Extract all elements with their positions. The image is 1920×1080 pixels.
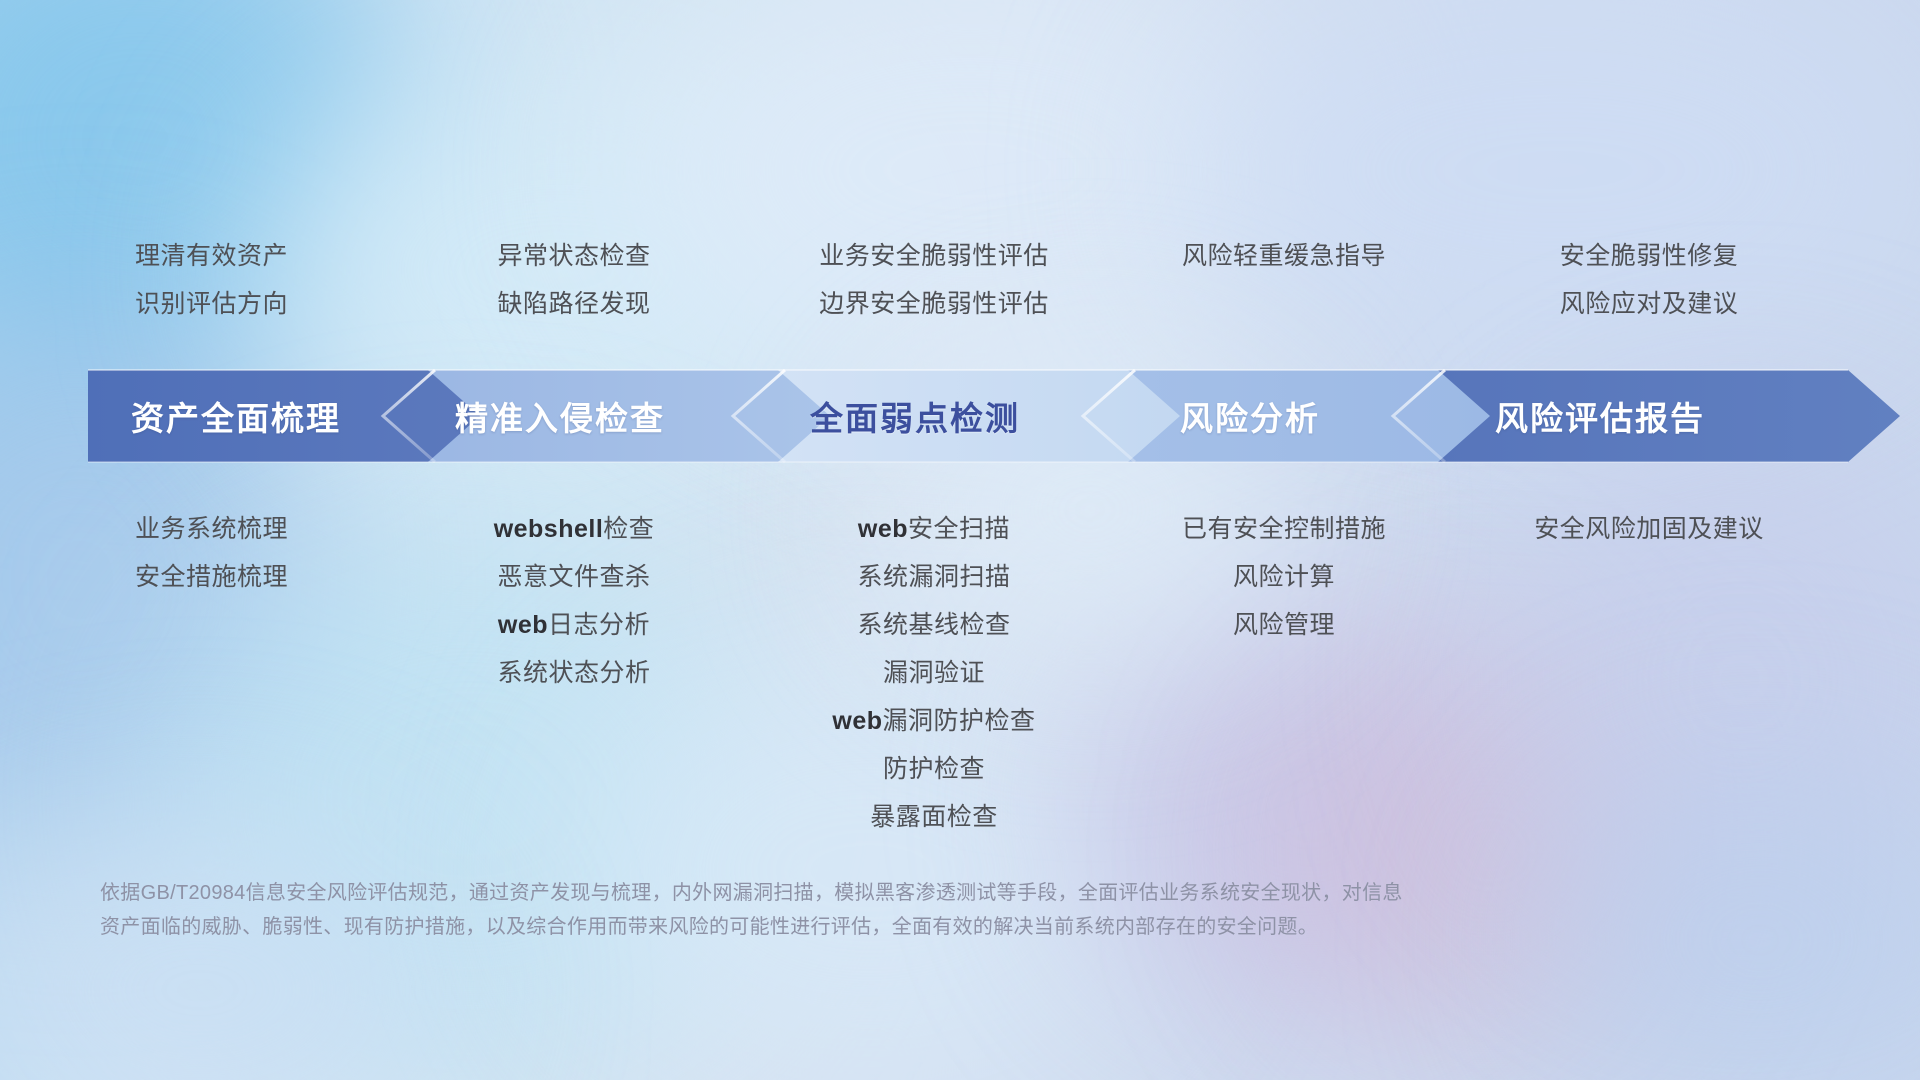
chevron-label-weakness-detection[interactable]: 全面弱点检测 [745, 366, 1085, 466]
list-item: 业务系统梳理 [24, 505, 399, 553]
slide-canvas: 理清有效资产识别评估方向 异常状态检查缺陷路径发现 业务安全脆弱性评估边界安全脆… [0, 0, 1920, 1080]
top-captions-weakness-detection: 业务安全脆弱性评估边界安全脆弱性评估 [749, 232, 1119, 328]
process-chevron-band: 资产全面梳理 精准入侵检查 全面弱点检测 风险分析 风险评估报告 [0, 366, 1920, 466]
list-item: 已有安全控制措施 [1119, 505, 1449, 553]
list-item: 理清有效资产 [24, 232, 399, 280]
details-intrusion-check: webshell检查恶意文件查杀web日志分析系统状态分析 [399, 505, 749, 697]
list-item: web安全扫描 [749, 505, 1119, 553]
list-item: 识别评估方向 [24, 280, 399, 328]
list-item: 边界安全脆弱性评估 [749, 280, 1119, 328]
list-item: 缺陷路径发现 [399, 280, 749, 328]
top-captions-asset-inventory: 理清有效资产识别评估方向 [24, 232, 399, 328]
list-item: 恶意文件查杀 [399, 553, 749, 601]
list-item: 风险轻重缓急指导 [1119, 232, 1449, 280]
list-item: 暴露面检查 [749, 793, 1119, 841]
list-item: 安全脆弱性修复 [1449, 232, 1849, 280]
top-captions-row: 理清有效资产识别评估方向 异常状态检查缺陷路径发现 业务安全脆弱性评估边界安全脆… [0, 232, 1920, 352]
details-asset-inventory: 业务系统梳理安全措施梳理 [24, 505, 399, 601]
list-item-keyword: webshell [494, 515, 604, 543]
list-item: 风险应对及建议 [1449, 280, 1849, 328]
top-captions-intrusion-check: 异常状态检查缺陷路径发现 [399, 232, 749, 328]
footer-line-1: 依据GB/T20984信息安全风险评估规范，通过资产发现与梳理，内外网漏洞扫描，… [100, 876, 1640, 910]
chevron-label-intrusion-check[interactable]: 精准入侵检查 [400, 366, 720, 466]
list-item-keyword: web [498, 611, 548, 639]
list-item: webshell检查 [399, 505, 749, 553]
list-item: 风险管理 [1119, 601, 1449, 649]
details-risk-analysis: 已有安全控制措施风险计算风险管理 [1119, 505, 1449, 649]
list-item: 安全风险加固及建议 [1449, 505, 1849, 553]
list-item: 系统状态分析 [399, 649, 749, 697]
bottom-details-row: 业务系统梳理安全措施梳理 webshell检查恶意文件查杀web日志分析系统状态… [0, 505, 1920, 835]
list-item: 安全措施梳理 [24, 553, 399, 601]
list-item: 漏洞验证 [749, 649, 1119, 697]
top-captions-risk-analysis: 风险轻重缓急指导 [1119, 232, 1449, 280]
list-item: web日志分析 [399, 601, 749, 649]
list-item: 系统基线检查 [749, 601, 1119, 649]
list-item: web漏洞防护检查 [749, 697, 1119, 745]
details-assessment-report: 安全风险加固及建议 [1449, 505, 1849, 553]
footer-line-2: 资产面临的威胁、脆弱性、现有防护措施，以及综合作用而带来风险的可能性进行评估，全… [100, 910, 1640, 944]
details-weakness-detection: web安全扫描系统漏洞扫描系统基线检查漏洞验证web漏洞防护检查防护检查暴露面检… [749, 505, 1119, 841]
top-captions-assessment-report: 安全脆弱性修复风险应对及建议 [1449, 232, 1849, 328]
list-item: 风险计算 [1119, 553, 1449, 601]
list-item-keyword: web [832, 707, 882, 735]
list-item: 业务安全脆弱性评估 [749, 232, 1119, 280]
list-item-keyword: web [858, 515, 908, 543]
list-item: 异常状态检查 [399, 232, 749, 280]
diagram-content: 理清有效资产识别评估方向 异常状态检查缺陷路径发现 业务安全脆弱性评估边界安全脆… [0, 0, 1920, 1080]
chevron-label-risk-analysis[interactable]: 风险分析 [1105, 366, 1395, 466]
list-item: 防护检查 [749, 745, 1119, 793]
chevron-label-assessment-report[interactable]: 风险评估报告 [1430, 366, 1770, 466]
list-item: 系统漏洞扫描 [749, 553, 1119, 601]
footer-note: 依据GB/T20984信息安全风险评估规范，通过资产发现与梳理，内外网漏洞扫描，… [100, 876, 1640, 944]
chevron-label-asset-inventory[interactable]: 资产全面梳理 [86, 366, 386, 466]
